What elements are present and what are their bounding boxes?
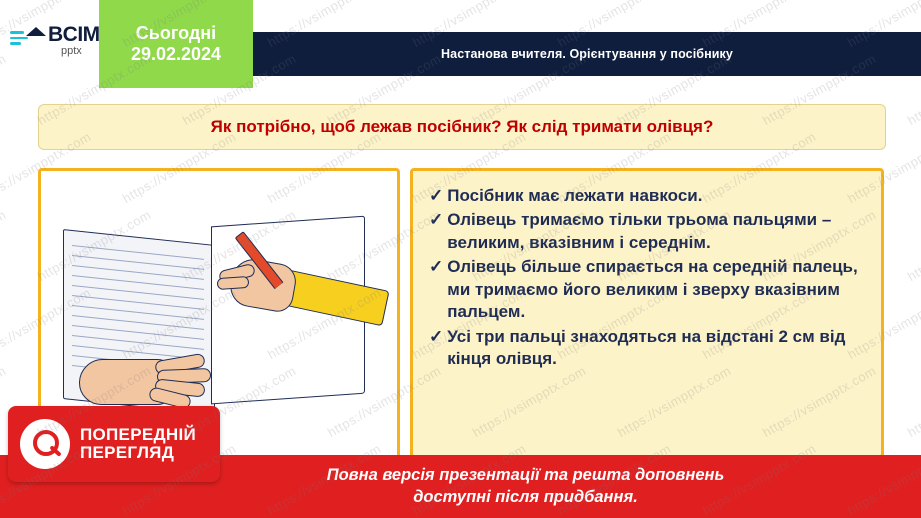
list-item-text: Олівець більше спирається на середній па… xyxy=(447,256,865,323)
list-item-text: Олівець тримаємо тільки трьома пальцями … xyxy=(447,209,865,254)
logo-graduation-cap-icon xyxy=(10,25,44,55)
magnifier-icon xyxy=(20,419,70,469)
logo-main-label: BCIM xyxy=(48,23,100,46)
check-icon: ✓ xyxy=(429,209,443,231)
preview-badge: ПОПЕРЕДНІЙ ПЕРЕГЛЯД xyxy=(8,406,220,482)
check-icon: ✓ xyxy=(429,326,443,348)
question-banner: Як потрібно, щоб лежав посібник? Як слід… xyxy=(38,104,886,150)
date-badge: Сьогодні 29.02.2024 xyxy=(99,0,253,88)
list-item: ✓ Посібник має лежати навкоси. xyxy=(429,185,865,207)
bottom-line-1: Повна версія презентації та решта доповн… xyxy=(327,466,725,484)
logo-text: BCIM pptx xyxy=(48,24,100,57)
cap-icon xyxy=(26,27,46,36)
header-title: Настанова вчителя. Орієнтування у посібн… xyxy=(441,47,733,61)
watermark-text: https://vsimpptx.com xyxy=(905,207,921,284)
finger-graphic xyxy=(217,276,250,290)
preview-line-1: ПОПЕРЕДНІЙ xyxy=(80,426,196,444)
date-label-value: 29.02.2024 xyxy=(131,44,221,65)
question-text: Як потрібно, щоб лежав посібник? Як слід… xyxy=(211,117,714,137)
preview-badge-text: ПОПЕРЕДНІЙ ПЕРЕГЛЯД xyxy=(80,426,196,462)
list-item-text: Посібник має лежати навкоси. xyxy=(447,185,702,207)
writing-hand-graphic xyxy=(213,233,363,353)
check-icon: ✓ xyxy=(429,256,443,278)
slide: Настанова вчителя. Орієнтування у посібн… xyxy=(0,0,921,518)
list-item: ✓ Олівець більше спирається на середній … xyxy=(429,256,865,323)
list-item: ✓ Олівець тримаємо тільки трьома пальцям… xyxy=(429,209,865,254)
watermark-text: https://vsimpptx.com xyxy=(905,363,921,440)
preview-line-2: ПЕРЕГЛЯД xyxy=(80,444,196,462)
instructions-card: ✓ Посібник має лежати навкоси. ✓ Олівець… xyxy=(410,168,884,458)
date-label-today: Сьогодні xyxy=(136,23,216,44)
watermark-text: https://vsimpptx.com xyxy=(0,207,9,284)
list-item-text: Усі три пальці знаходяться на відстані 2… xyxy=(447,326,865,371)
list-item: ✓ Усі три пальці знаходяться на відстані… xyxy=(429,326,865,371)
bottom-notice-text: Повна версія презентації та решта доповн… xyxy=(206,465,846,508)
bottom-line-2: доступні після придбання. xyxy=(413,488,638,506)
check-icon: ✓ xyxy=(429,185,443,207)
logo-sub-label: pptx xyxy=(61,46,100,57)
header-bar: Настанова вчителя. Орієнтування у посібн… xyxy=(253,32,921,76)
